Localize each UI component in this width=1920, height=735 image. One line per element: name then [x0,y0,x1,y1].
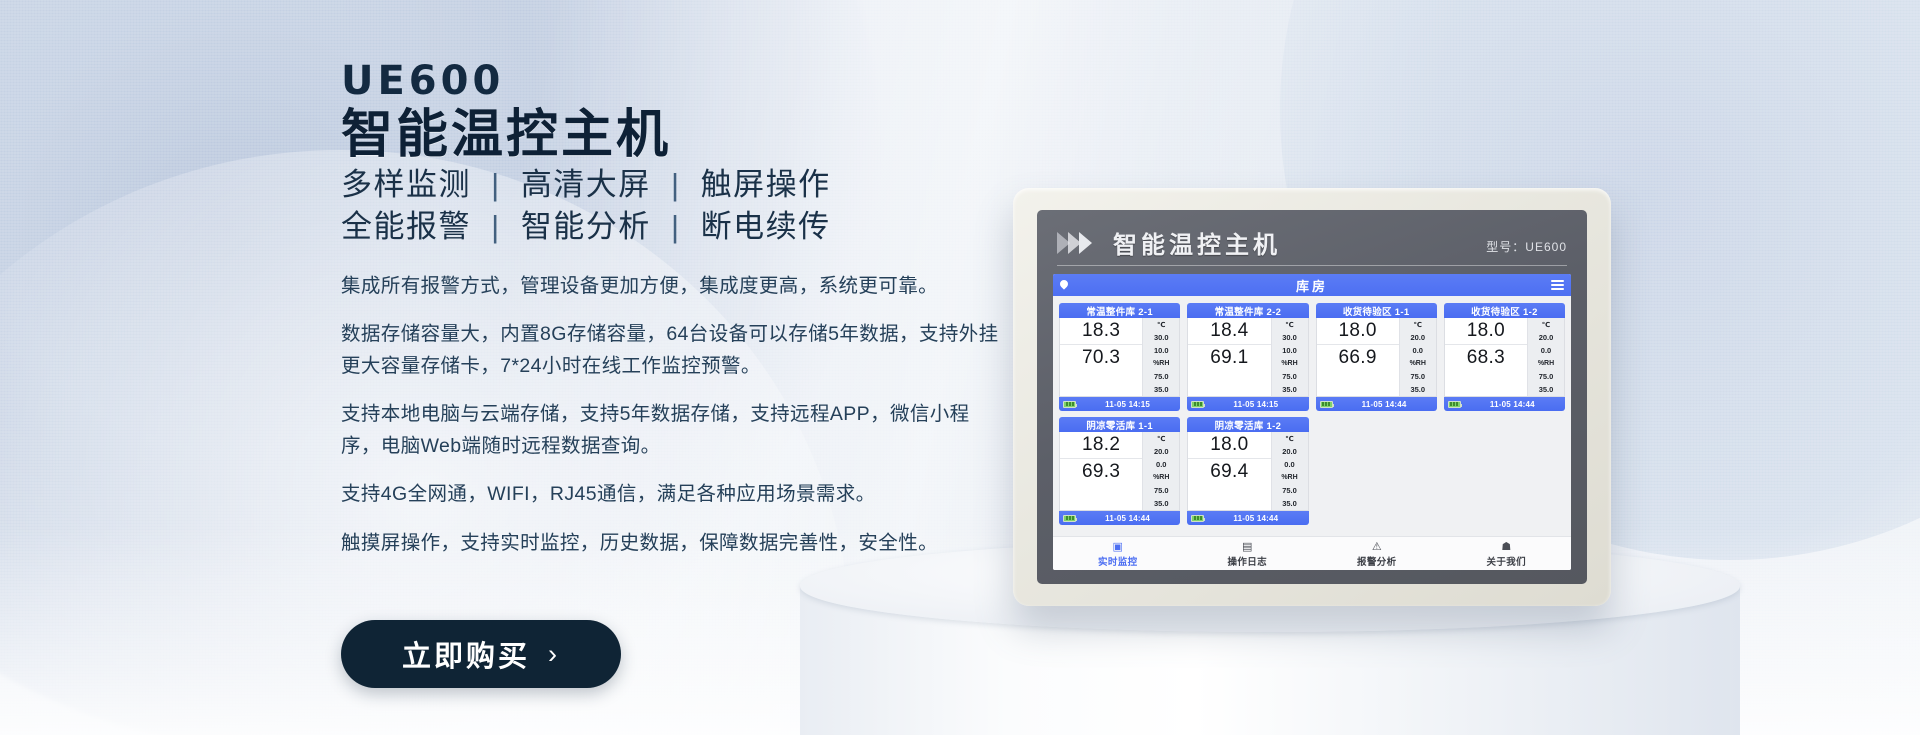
buy-now-label: 立即购买 [402,633,530,675]
humidity-min: 35.0 [1400,383,1436,396]
screen-title: 智能温控主机 [1113,225,1281,260]
tagline-separator: | [481,167,511,202]
humidity-max: 75.0 [1143,370,1179,383]
chevron-right-icon: › [548,639,560,670]
sensor-card-footer: 11-05 14:44 [1187,511,1308,525]
sensor-timestamp: 11-05 14:44 [1464,400,1561,409]
sensor-timestamp: 11-05 14:15 [1079,400,1176,409]
brand-name: UE600 [341,60,1061,102]
humidity-min: 35.0 [1272,383,1308,396]
temperature-unit: ℃ [1400,318,1436,331]
humidity-max: 75.0 [1272,370,1308,383]
nav-label: 报警分析 [1357,554,1397,568]
feature-tagline-row-1: 多样监测 | 高清大屏 | 触屏操作 [341,164,1061,206]
sensor-card-body: 18.4 69.1 ℃ 30.0 10.0 %RH 75.0 35.0 [1187,318,1308,397]
sensor-card[interactable]: 收货待验区 1-1 18.0 66.9 ℃ 20.0 0.0 %RH 75.0 [1316,303,1437,411]
sensor-limits: ℃ 20.0 0.0 %RH 75.0 35.0 [1142,432,1179,510]
panel-title: 库房 [1053,276,1571,295]
sensor-card-title: 收货待验区 1-1 [1316,303,1437,318]
humidity-unit: %RH [1528,357,1564,370]
feature-tag-2: 高清大屏 [521,167,651,202]
temperature-value: 18.0 [1317,318,1399,344]
tagline-separator: | [661,167,691,202]
sensor-limits: ℃ 20.0 0.0 %RH 75.0 35.0 [1271,432,1308,510]
humidity-unit: %RH [1400,357,1436,370]
temperature-value: 18.2 [1060,432,1142,458]
humidity-unit: %RH [1272,357,1308,370]
nav-item-about-us[interactable]: ☗ 关于我们 [1442,540,1572,568]
battery-icon [1063,515,1076,522]
model-label: 型号： [1486,240,1525,254]
sensor-card[interactable]: 阴凉零活库 1-2 18.0 69.4 ℃ 20.0 0.0 %RH 75.0 [1187,417,1308,525]
temperature-min: 0.0 [1143,458,1179,471]
humidity-max: 75.0 [1272,484,1308,497]
nav-item-alarm-analysis[interactable]: ⚠ 报警分析 [1312,540,1442,568]
sensor-card-body: 18.3 70.3 ℃ 30.0 10.0 %RH 75.0 35.0 [1059,318,1180,397]
sensor-readings: 18.4 69.1 [1188,318,1270,396]
humidity-max: 75.0 [1528,370,1564,383]
humidity-min: 35.0 [1528,383,1564,396]
nav-label: 操作日志 [1227,554,1267,568]
description-paragraphs: 集成所有报警方式，管理设备更加方便，集成度更高，系统更可靠。 数据存储容量大，内… [341,271,1061,560]
temperature-max: 30.0 [1272,331,1308,344]
device-screen: 智能温控主机 型号：UE600 库房 常温整件库 2-1 18.3 [1037,210,1587,584]
sensor-card[interactable]: 常温整件库 2-2 18.4 69.1 ℃ 30.0 10.0 %RH 75.0 [1187,303,1308,411]
description-paragraph: 支持4G全网通，WIFI，RJ45通信，满足各种应用场景需求。 [341,479,1001,511]
humidity-min: 35.0 [1272,497,1308,510]
model-info: 型号：UE600 [1486,238,1567,260]
sensor-card[interactable]: 阴凉零活库 1-1 18.2 69.3 ℃ 20.0 0.0 %RH 75.0 [1059,417,1180,525]
humidity-unit: %RH [1143,471,1179,484]
description-paragraph: 数据存储容量大，内置8G存储容量，64台设备可以存储5年数据，支持外挂更大容量存… [341,319,1001,382]
monitor-icon: ▣ [1113,540,1123,553]
device-bottom-nav: ▣ 实时监控 ▤ 操作日志 ⚠ 报警分析 ☗ 关于我们 [1053,536,1571,570]
user-icon: ☗ [1501,540,1511,553]
temperature-unit: ℃ [1143,318,1179,331]
sensor-timestamp: 11-05 14:44 [1336,400,1433,409]
sensor-card-body: 18.0 68.3 ℃ 20.0 0.0 %RH 75.0 35.0 [1444,318,1565,397]
sensor-card-body: 18.2 69.3 ℃ 20.0 0.0 %RH 75.0 35.0 [1059,432,1180,511]
temperature-min: 0.0 [1272,458,1308,471]
nav-item-operation-log[interactable]: ▤ 操作日志 [1183,540,1313,568]
description-paragraph: 支持本地电脑与云端存储，支持5年数据存储，支持远程APP，微信小程序，电脑Web… [341,399,1001,462]
sensor-card[interactable]: 收货待验区 1-2 18.0 68.3 ℃ 20.0 0.0 %RH 75.0 [1444,303,1565,411]
sensor-readings: 18.3 70.3 [1060,318,1142,396]
sensor-limits: ℃ 20.0 0.0 %RH 75.0 35.0 [1399,318,1436,396]
nav-label: 关于我们 [1486,554,1526,568]
temperature-min: 10.0 [1143,344,1179,357]
temperature-max: 20.0 [1272,445,1308,458]
sensor-card-body: 18.0 66.9 ℃ 20.0 0.0 %RH 75.0 35.0 [1316,318,1437,397]
battery-icon [1191,515,1204,522]
screen-header: 智能温控主机 型号：UE600 [1053,223,1571,260]
sensor-card-title: 收货待验区 1-2 [1444,303,1565,318]
humidity-unit: %RH [1143,357,1179,370]
sensor-readings: 18.0 68.3 [1445,318,1527,396]
humidity-min: 35.0 [1143,497,1179,510]
humidity-min: 35.0 [1143,383,1179,396]
sensor-card[interactable]: 常温整件库 2-1 18.3 70.3 ℃ 30.0 10.0 %RH 75.0 [1059,303,1180,411]
nav-label: 实时监控 [1098,554,1138,568]
temperature-min: 10.0 [1272,344,1308,357]
sensor-card-title: 阴凉零活库 1-1 [1059,417,1180,432]
humidity-unit: %RH [1272,471,1308,484]
warning-icon: ⚠ [1372,540,1382,553]
tagline-separator: | [481,209,511,244]
temperature-unit: ℃ [1272,318,1308,331]
sensor-card-title: 常温整件库 2-2 [1187,303,1308,318]
battery-icon [1191,401,1204,408]
description-paragraph: 触摸屏操作，支持实时监控，历史数据，保障数据完善性，安全性。 [341,528,1001,560]
hero-copy-block: UE600 智能温控主机 多样监测 | 高清大屏 | 触屏操作 全能报警 | 智… [341,60,1061,560]
sensor-card-title: 阴凉零活库 1-2 [1187,417,1308,432]
feature-tagline-row-2: 全能报警 | 智能分析 | 断电续传 [341,206,1061,248]
panel-titlebar: 库房 [1053,274,1571,296]
temperature-min: 0.0 [1528,344,1564,357]
humidity-value: 69.1 [1188,344,1270,370]
monitor-panel: 库房 常温整件库 2-1 18.3 70.3 ℃ 30.0 [1053,274,1571,570]
feature-tag-1: 多样监测 [341,167,471,202]
feature-tag-5: 智能分析 [521,209,651,244]
temperature-min: 0.0 [1400,344,1436,357]
sensor-card-footer: 11-05 14:44 [1059,511,1180,525]
double-chevron-icon [1057,230,1103,256]
feature-tag-4: 全能报警 [341,209,471,244]
battery-icon [1448,401,1461,408]
humidity-max: 75.0 [1400,370,1436,383]
humidity-value: 69.3 [1060,458,1142,484]
sensor-card-footer: 11-05 14:44 [1316,397,1437,411]
sensor-limits: ℃ 30.0 10.0 %RH 75.0 35.0 [1271,318,1308,396]
temperature-value: 18.0 [1188,432,1270,458]
description-paragraph: 集成所有报警方式，管理设备更加方便，集成度更高，系统更可靠。 [341,271,1001,303]
tagline-separator: | [661,209,691,244]
sensor-timestamp: 11-05 14:44 [1079,514,1176,523]
feature-tag-6: 断电续传 [701,209,831,244]
temperature-max: 20.0 [1400,331,1436,344]
sensor-timestamp: 11-05 14:15 [1207,400,1304,409]
sensor-card-title: 常温整件库 2-1 [1059,303,1180,318]
temperature-max: 30.0 [1143,331,1179,344]
sensor-card-footer: 11-05 14:44 [1444,397,1565,411]
page-title: 智能温控主机 [341,106,1061,164]
humidity-value: 70.3 [1060,344,1142,370]
sensor-limits: ℃ 30.0 10.0 %RH 75.0 35.0 [1142,318,1179,396]
sensor-timestamp: 11-05 14:44 [1207,514,1304,523]
sensor-card-grid: 常温整件库 2-1 18.3 70.3 ℃ 30.0 10.0 %RH 75.0 [1053,296,1571,536]
battery-icon [1320,401,1333,408]
temperature-max: 20.0 [1528,331,1564,344]
controller-device: 智能温控主机 型号：UE600 库房 常温整件库 2-1 18.3 [1013,188,1611,606]
sensor-readings: 18.0 66.9 [1317,318,1399,396]
temperature-unit: ℃ [1528,318,1564,331]
header-divider [1057,265,1567,266]
buy-now-button[interactable]: 立即购买 › [341,620,621,688]
sensor-card-body: 18.0 69.4 ℃ 20.0 0.0 %RH 75.0 35.0 [1187,432,1308,511]
sensor-card-footer: 11-05 14:15 [1187,397,1308,411]
temperature-unit: ℃ [1143,432,1179,445]
sensor-card-footer: 11-05 14:15 [1059,397,1180,411]
humidity-max: 75.0 [1143,484,1179,497]
battery-icon [1063,401,1076,408]
sensor-readings: 18.2 69.3 [1060,432,1142,510]
humidity-value: 66.9 [1317,344,1399,370]
sensor-readings: 18.0 69.4 [1188,432,1270,510]
sensor-limits: ℃ 20.0 0.0 %RH 75.0 35.0 [1527,318,1564,396]
temperature-unit: ℃ [1272,432,1308,445]
humidity-value: 68.3 [1445,344,1527,370]
humidity-value: 69.4 [1188,458,1270,484]
log-icon: ▤ [1242,540,1252,553]
temperature-value: 18.0 [1445,318,1527,344]
feature-tag-3: 触屏操作 [701,167,831,202]
temperature-max: 20.0 [1143,445,1179,458]
model-value: UE600 [1525,240,1567,254]
temperature-value: 18.4 [1188,318,1270,344]
temperature-value: 18.3 [1060,318,1142,344]
nav-item-realtime-monitor[interactable]: ▣ 实时监控 [1053,540,1183,568]
